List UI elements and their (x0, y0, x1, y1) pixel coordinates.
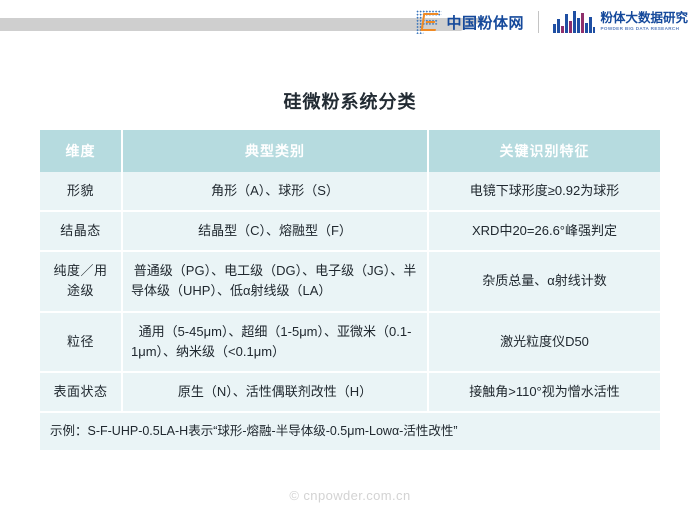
header-logos: 中国粉体网 粉体大数据研究 POWDER BIG DATA RESEARCH (416, 10, 688, 34)
cell-types: 通用（5-45μm）、超细（1-5μm）、亚微米（0.1-1μm）、纳米级（<0… (122, 312, 428, 372)
classification-table: 维度 典型类别 关键识别特征 形貌 角形（A）、球形（S） 电镜下球形度≥0.9… (40, 130, 660, 450)
classification-table-wrapper: 维度 典型类别 关键识别特征 形貌 角形（A）、球形（S） 电镜下球形度≥0.9… (40, 130, 660, 450)
cnpowder-logo[interactable]: 中国粉体网 (416, 10, 525, 34)
page-title: 硅微粉系统分类 (0, 88, 700, 114)
column-header-dimension: 维度 (40, 130, 122, 172)
cnpowder-f-mark-icon (416, 10, 442, 34)
cell-feature: XRD中20=26.6°峰强判定 (428, 211, 660, 251)
table-note-row: 示例：S-F-UHP-0.5LA-H表示“球形-熔融-半导体级-0.5μm-Lo… (40, 412, 660, 450)
cell-types: 角形（A）、球形（S） (122, 172, 428, 211)
bar-chart-mark-icon (553, 11, 595, 33)
powder-bigdata-label-cn: 粉体大数据研究 (600, 12, 688, 25)
logo-divider (538, 11, 539, 33)
cell-types: 原生（N）、活性偶联剂改性（H） (122, 372, 428, 412)
table-row: 结晶态 结晶型（C）、熔融型（F） XRD中20=26.6°峰强判定 (40, 211, 660, 251)
cell-dimension: 形貌 (40, 172, 122, 211)
page-header: 中国粉体网 粉体大数据研究 POWDER BIG DATA RESEARCH (0, 0, 700, 56)
watermark: © cnpowder.com.cn (0, 488, 700, 503)
cell-types: 结晶型（C）、熔融型（F） (122, 211, 428, 251)
cell-feature: 激光粒度仪D50 (428, 312, 660, 372)
powder-bigdata-logo-text: 粉体大数据研究 POWDER BIG DATA RESEARCH (600, 12, 688, 31)
table-note: 示例：S-F-UHP-0.5LA-H表示“球形-熔融-半导体级-0.5μm-Lo… (40, 412, 660, 450)
cell-dimension: 结晶态 (40, 211, 122, 251)
cell-feature: 杂质总量、α射线计数 (428, 251, 660, 311)
table-header-row: 维度 典型类别 关键识别特征 (40, 130, 660, 172)
table-row: 表面状态 原生（N）、活性偶联剂改性（H） 接触角>110°视为憎水活性 (40, 372, 660, 412)
table-row: 纯度／用途级 普通级（PG）、电工级（DG）、电子级（JG）、半导体级（UHP）… (40, 251, 660, 311)
cnpowder-logo-label: 中国粉体网 (447, 12, 525, 33)
table-row: 形貌 角形（A）、球形（S） 电镜下球形度≥0.92为球形 (40, 172, 660, 211)
cell-dimension: 粒径 (40, 312, 122, 372)
powder-bigdata-logo[interactable]: 粉体大数据研究 POWDER BIG DATA RESEARCH (553, 11, 688, 33)
column-header-feature: 关键识别特征 (428, 130, 660, 172)
powder-bigdata-label-en: POWDER BIG DATA RESEARCH (600, 27, 688, 32)
cell-dimension: 纯度／用途级 (40, 251, 122, 311)
cell-feature: 接触角>110°视为憎水活性 (428, 372, 660, 412)
cell-feature: 电镜下球形度≥0.92为球形 (428, 172, 660, 211)
cell-types: 普通级（PG）、电工级（DG）、电子级（JG）、半导体级（UHP）、低α射线级（… (122, 251, 428, 311)
column-header-types: 典型类别 (122, 130, 428, 172)
table-row: 粒径 通用（5-45μm）、超细（1-5μm）、亚微米（0.1-1μm）、纳米级… (40, 312, 660, 372)
cell-dimension: 表面状态 (40, 372, 122, 412)
